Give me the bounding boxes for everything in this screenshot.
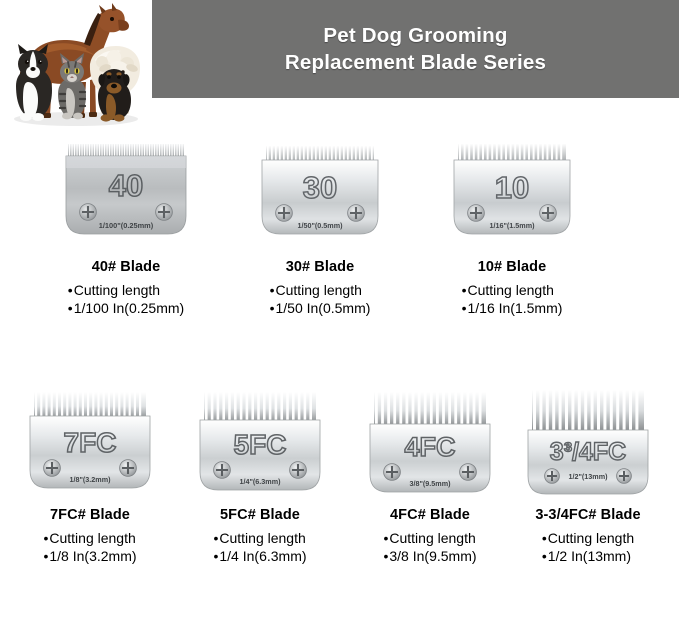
blade-spec-line: •Cutting length — [542, 529, 634, 547]
bullet-icon: • — [213, 530, 218, 546]
header-banner: Pet Dog Grooming Replacement Blade Serie… — [152, 0, 679, 98]
blade-spec-line: •Cutting length — [68, 281, 184, 299]
page-title: Pet Dog Grooming Replacement Blade Serie… — [285, 22, 546, 76]
bullet-icon: • — [462, 300, 467, 316]
blade-engraved-size-3-3-4fc: 1/2"(13mm) — [569, 472, 609, 481]
blade-title-3-3-4fc: 3-3/4FC# Blade — [488, 507, 679, 523]
blade-svg-5fc: 5FC 1/4"(6.3mm) — [190, 386, 330, 506]
animal-collage-svg — [2, 2, 150, 128]
blade-engraved-size-40: 1/100"(0.25mm) — [99, 221, 154, 230]
blade-specs-5fc: •Cutting length •1/4 In(6.3mm) — [213, 529, 306, 566]
blade-engraved-number-7fc: 7FC — [64, 427, 117, 458]
blade-engraved-size-5fc: 1/4"(6.3mm) — [240, 477, 282, 486]
blade-teeth-4fc — [374, 388, 486, 426]
blade-image-3-3-4fc: 3³/4FC 1/2"(13mm) — [488, 386, 679, 501]
blade-teeth-10 — [458, 140, 566, 162]
blade-engraved-number-4fc: 4FC — [404, 432, 455, 462]
blade-spec-text: Cutting length — [548, 530, 634, 546]
blade-spec-text: 3/8 In(9.5mm) — [389, 548, 476, 564]
bullet-icon: • — [462, 282, 467, 298]
blade-engraved-size-30: 1/50"(0.5mm) — [298, 221, 344, 230]
blade-engraved-size-10: 1/16"(1.5mm) — [490, 221, 536, 230]
blade-engraved-size-4fc: 3/8"(9.5mm) — [410, 479, 452, 488]
blade-spec-line: •1/8 In(3.2mm) — [43, 547, 136, 565]
blade-teeth-5fc — [204, 388, 316, 422]
blade-spec-text: Cutting length — [49, 530, 135, 546]
blade-image-40: 40 1/100"(0.25mm) — [26, 138, 226, 253]
blade-spec-line: •Cutting length — [213, 529, 306, 547]
blade-spec-text: Cutting length — [389, 530, 475, 546]
blade-teeth-7fc — [34, 388, 146, 418]
blade-svg-7fc: 7FC 1/8"(3.2mm) — [20, 386, 160, 506]
blade-spec-line: •Cutting length — [270, 281, 371, 299]
blade-spec-line: •1/4 In(6.3mm) — [213, 547, 306, 565]
blade-spec-line: •Cutting length — [383, 529, 476, 547]
blade-svg-4fc: 4FC 3/8"(9.5mm) — [360, 386, 500, 506]
blade-spec-line: •1/50 In(0.5mm) — [270, 299, 371, 317]
blade-title-40: 40# Blade — [26, 259, 226, 275]
blade-card-40[interactable]: 40 1/100"(0.25mm) 40# Blade •Cutting len… — [26, 138, 226, 318]
blade-engraved-number-3-3-4fc: 3³/4FC — [550, 438, 626, 466]
blade-svg-3-3-4fc: 3³/4FC 1/2"(13mm) — [518, 386, 658, 506]
bullet-icon: • — [270, 300, 275, 316]
blade-specs-10: •Cutting length •1/16 In(1.5mm) — [462, 281, 563, 318]
animal-collage-image — [2, 2, 150, 128]
blade-teeth-40 — [68, 140, 184, 158]
blade-card-3-3-4fc[interactable]: 3³/4FC 1/2"(13mm) 3-3/4FC# Blade •Cuttin… — [488, 386, 679, 566]
cat-figure — [58, 53, 86, 119]
blade-spec-text: Cutting length — [467, 282, 553, 298]
blade-spec-line: •1/100 In(0.25mm) — [68, 299, 184, 317]
blade-spec-line: •Cutting length — [43, 529, 136, 547]
blade-spec-text: Cutting length — [219, 530, 305, 546]
blade-specs-30: •Cutting length •1/50 In(0.5mm) — [270, 281, 371, 318]
blade-spec-line: •Cutting length — [462, 281, 563, 299]
blade-svg-30: 30 1/50"(0.5mm) — [254, 138, 386, 253]
bullet-icon: • — [68, 282, 73, 298]
bullet-icon: • — [43, 530, 48, 546]
blade-spec-text: 1/8 In(3.2mm) — [49, 548, 136, 564]
bullet-icon: • — [270, 282, 275, 298]
blade-specs-7fc: •Cutting length •1/8 In(3.2mm) — [43, 529, 136, 566]
blade-spec-text: Cutting length — [275, 282, 361, 298]
blade-svg-10: 10 1/16"(1.5mm) — [446, 138, 578, 253]
bullet-icon: • — [43, 548, 48, 564]
blade-title-30: 30# Blade — [220, 259, 420, 275]
blade-specs-3-3-4fc: •Cutting length •1/2 In(13mm) — [542, 529, 634, 566]
bullet-icon: • — [383, 530, 388, 546]
blade-spec-text: 1/16 In(1.5mm) — [467, 300, 562, 316]
blade-svg-40: 40 1/100"(0.25mm) — [58, 138, 194, 253]
blade-spec-line: •1/2 In(13mm) — [542, 547, 634, 565]
blade-specs-40: •Cutting length •1/100 In(0.25mm) — [68, 281, 184, 318]
blade-spec-text: 1/50 In(0.5mm) — [275, 300, 370, 316]
blade-teeth-30 — [266, 140, 374, 162]
bullet-icon: • — [542, 530, 547, 546]
blade-teeth-3-3-4fc — [532, 388, 644, 434]
blade-spec-line: •1/16 In(1.5mm) — [462, 299, 563, 317]
blade-spec-text: 1/2 In(13mm) — [548, 548, 631, 564]
rottweiler-figure — [98, 69, 131, 122]
blade-spec-line: •3/8 In(9.5mm) — [383, 547, 476, 565]
blade-engraved-number-30: 30 — [303, 170, 337, 205]
blade-spec-text: Cutting length — [74, 282, 160, 298]
blade-spec-text: 1/4 In(6.3mm) — [219, 548, 306, 564]
bullet-icon: • — [213, 548, 218, 564]
bullet-icon: • — [383, 548, 388, 564]
bullet-icon: • — [68, 300, 73, 316]
blade-specs-4fc: •Cutting length •3/8 In(9.5mm) — [383, 529, 476, 566]
blade-engraved-number-10: 10 — [495, 170, 529, 205]
blade-card-10[interactable]: 10 1/16"(1.5mm) 10# Blade •Cutting lengt… — [412, 138, 612, 318]
blade-image-10: 10 1/16"(1.5mm) — [412, 138, 612, 253]
bullet-icon: • — [542, 548, 547, 564]
blade-spec-text: 1/100 In(0.25mm) — [74, 300, 185, 316]
blade-image-30: 30 1/50"(0.5mm) — [220, 138, 420, 253]
blade-engraved-size-7fc: 1/8"(3.2mm) — [70, 475, 112, 484]
blade-engraved-number-5fc: 5FC — [234, 429, 287, 460]
blade-title-10: 10# Blade — [412, 259, 612, 275]
blade-card-30[interactable]: 30 1/50"(0.5mm) 30# Blade •Cutting lengt… — [220, 138, 420, 318]
blade-engraved-number-40: 40 — [109, 168, 143, 203]
page-header: Pet Dog Grooming Replacement Blade Serie… — [0, 0, 679, 130]
